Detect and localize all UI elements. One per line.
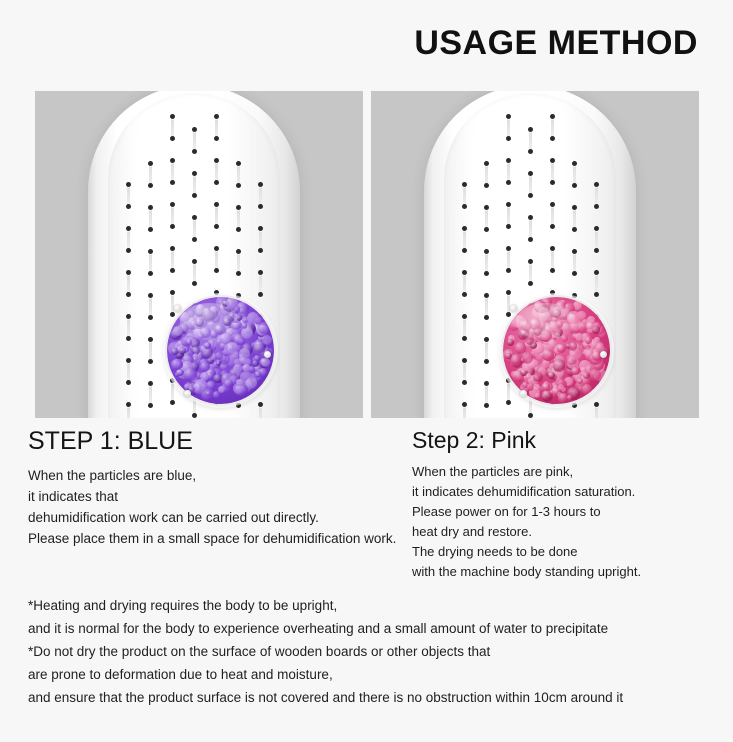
perforation-hole-icon <box>528 259 533 264</box>
perforation-hole-icon <box>258 226 263 231</box>
perforation-hole-icon <box>462 336 467 341</box>
gel-bead <box>191 321 196 326</box>
gel-bead <box>223 322 231 330</box>
gel-bead <box>586 322 593 329</box>
perforation-hole-icon <box>572 205 577 210</box>
step-1-line: When the particles are blue, <box>28 465 398 486</box>
perforation-groove <box>463 185 466 205</box>
perforation-groove <box>193 218 196 238</box>
perforation-hole-icon <box>214 246 219 251</box>
gel-bead <box>540 331 546 337</box>
perforation-groove <box>237 164 240 184</box>
gel-bead <box>554 333 559 338</box>
gel-bead <box>529 318 541 330</box>
perforation-groove <box>127 405 130 419</box>
dehumidifier-body-blue <box>88 91 300 418</box>
gel-bead <box>234 317 239 322</box>
gel-beads-pink <box>503 297 610 404</box>
gel-bead <box>507 339 514 346</box>
gel-bead <box>187 310 195 318</box>
gel-bead <box>195 307 205 317</box>
perforation-hole-icon <box>572 227 577 232</box>
perforation-groove <box>259 405 262 419</box>
gel-bead <box>541 321 552 332</box>
gel-bead <box>194 322 201 329</box>
gel-bead <box>196 305 205 314</box>
perforation-hole-icon <box>528 171 533 176</box>
perforation-hole-icon <box>506 312 511 317</box>
gel-bead <box>552 316 558 322</box>
gel-bead <box>204 342 211 349</box>
gel-bead <box>202 307 211 316</box>
perforation-hole-icon <box>594 226 599 231</box>
perforation-groove <box>463 361 466 381</box>
step-2-line: The drying needs to be done <box>412 542 732 562</box>
gel-bead <box>200 362 210 372</box>
perforation-hole-icon <box>126 292 131 297</box>
perforation-hole-icon <box>506 224 511 229</box>
gel-bead <box>539 313 548 322</box>
gel-bead <box>228 313 234 319</box>
gel-bead <box>210 330 217 337</box>
gel-bead <box>192 317 203 328</box>
gel-bead <box>556 312 561 317</box>
perforation-groove <box>551 249 554 269</box>
gel-bead <box>562 323 569 330</box>
gel-bead <box>538 322 545 329</box>
perforation-hole-icon <box>528 413 533 418</box>
gel-bead <box>538 333 546 341</box>
gel-bead <box>533 372 543 382</box>
gel-bead <box>533 326 543 336</box>
perforation-hole-icon <box>550 268 555 273</box>
gel-bead <box>542 323 554 335</box>
gel-bead <box>231 320 241 330</box>
gel-bead <box>546 311 553 318</box>
note-line: are prone to deformation due to heat and… <box>28 663 718 686</box>
perforation-hole-icon <box>170 202 175 207</box>
perforation-groove <box>237 208 240 228</box>
gel-bead <box>194 316 207 329</box>
perforation-hole-icon <box>572 249 577 254</box>
gel-bead <box>548 339 557 348</box>
gel-bead <box>533 384 540 391</box>
perforation-hole-icon <box>192 171 197 176</box>
perforation-hole-icon <box>192 413 197 418</box>
perforation-hole-icon <box>126 204 131 209</box>
gel-bead <box>223 318 231 326</box>
perforation-hole-icon <box>192 149 197 154</box>
gel-bead <box>535 330 545 340</box>
perforation-groove <box>507 161 510 181</box>
perforation-hole-icon <box>462 226 467 231</box>
gel-bead <box>557 344 566 353</box>
perforation-hole-icon <box>148 359 153 364</box>
perforation-groove <box>171 249 174 269</box>
perforation-groove <box>529 130 532 150</box>
perforation-hole-icon <box>550 290 555 295</box>
perforation-hole-icon <box>550 114 555 119</box>
perforation-groove <box>573 208 576 228</box>
step-2-line: Please power on for 1-3 hours to <box>412 502 732 522</box>
gel-bead <box>258 322 271 335</box>
perforation-hole-icon <box>594 270 599 275</box>
perforation-hole-icon <box>528 215 533 220</box>
gel-bead <box>526 324 538 336</box>
gel-bead <box>215 325 224 334</box>
gel-bead <box>538 307 549 318</box>
product-photo-blue <box>35 91 363 418</box>
perforation-hole-icon <box>484 293 489 298</box>
perforation-hole-icon <box>214 202 219 207</box>
gel-bead <box>211 313 220 322</box>
gel-bead <box>261 358 270 367</box>
perforation-hole-icon <box>236 271 241 276</box>
gel-bead <box>523 319 529 325</box>
perforation-hole-icon <box>484 205 489 210</box>
perforation-groove <box>127 273 130 293</box>
gel-bead <box>224 379 233 388</box>
perforation-hole-icon <box>506 400 511 405</box>
gel-bead <box>540 303 551 314</box>
perforation-hole-icon <box>506 136 511 141</box>
bead-window-blue <box>165 295 276 406</box>
gel-bead <box>531 320 538 327</box>
gel-bead <box>525 332 534 341</box>
gel-bead <box>516 320 524 328</box>
perforation-hole-icon <box>506 246 511 251</box>
perforation-groove <box>149 208 152 228</box>
perforation-hole-icon <box>148 227 153 232</box>
perforation-groove <box>149 296 152 316</box>
gel-bead <box>198 333 204 339</box>
screw-dot-icon <box>264 351 271 358</box>
perforation-groove <box>237 252 240 272</box>
gel-bead <box>184 368 197 381</box>
gel-bead <box>553 309 561 317</box>
perforation-hole-icon <box>484 359 489 364</box>
gel-bead <box>213 391 221 399</box>
gel-bead <box>520 321 527 328</box>
note-line: *Do not dry the product on the surface o… <box>28 640 718 663</box>
perforation-groove <box>595 273 598 293</box>
gel-bead <box>553 328 563 338</box>
device-face-plate-pink <box>444 93 616 418</box>
perforation-hole-icon <box>236 161 241 166</box>
step-2-heading: Step 2: Pink <box>412 428 732 453</box>
gel-bead <box>549 305 562 318</box>
gel-bead <box>521 320 533 332</box>
note-line: and ensure that the product surface is n… <box>28 686 718 709</box>
perforation-hole-icon <box>236 403 241 408</box>
perforation-groove <box>171 161 174 181</box>
perforation-hole-icon <box>214 224 219 229</box>
gel-bead <box>555 308 567 320</box>
gel-bead <box>223 315 234 326</box>
perforation-hole-icon <box>506 268 511 273</box>
screw-dot-icon <box>520 390 527 397</box>
perforation-groove <box>485 252 488 272</box>
perforation-groove <box>463 229 466 249</box>
step-1-line: Please place them in a small space for d… <box>28 528 398 549</box>
perforation-hole-icon <box>170 158 175 163</box>
perforation-hole-icon <box>258 248 263 253</box>
step-2-line: When the particles are pink, <box>412 462 732 482</box>
perforation-hole-icon <box>170 180 175 185</box>
perforation-hole-icon <box>258 270 263 275</box>
perforation-hole-icon <box>148 315 153 320</box>
gel-bead <box>545 325 556 336</box>
device-face-plate-blue <box>108 93 280 418</box>
gel-bead <box>208 307 219 318</box>
gel-bead <box>569 342 578 351</box>
perforation-groove <box>215 161 218 181</box>
step-1-heading: STEP 1: BLUE <box>28 428 398 456</box>
gel-bead <box>193 311 205 323</box>
perforation-groove <box>529 218 532 238</box>
gel-bead <box>545 302 551 308</box>
perforation-groove <box>149 340 152 360</box>
perforation-hole-icon <box>484 403 489 408</box>
gel-bead <box>188 314 200 326</box>
gel-bead <box>553 306 564 317</box>
perforation-hole-icon <box>528 193 533 198</box>
perforation-hole-icon <box>462 270 467 275</box>
perforation-hole-icon <box>126 248 131 253</box>
gel-bead <box>561 335 568 342</box>
gel-bead <box>556 321 563 328</box>
perforation-hole-icon <box>148 381 153 386</box>
perforation-hole-icon <box>236 205 241 210</box>
gel-bead <box>548 372 555 379</box>
perforation-groove <box>171 117 174 137</box>
perforation-hole-icon <box>192 237 197 242</box>
perforation-hole-icon <box>192 215 197 220</box>
perforation-hole-icon <box>462 248 467 253</box>
perforation-groove <box>259 185 262 205</box>
gel-bead <box>570 349 581 360</box>
perforation-hole-icon <box>258 182 263 187</box>
gel-bead <box>242 323 247 328</box>
step-2-line: it indicates dehumidification saturation… <box>412 482 732 502</box>
perforation-groove <box>573 164 576 184</box>
gel-bead <box>241 327 253 339</box>
gel-bead <box>549 322 560 333</box>
gel-bead <box>577 378 583 384</box>
perforation-hole-icon <box>126 314 131 319</box>
perforation-hole-icon <box>462 380 467 385</box>
perforation-hole-icon <box>484 381 489 386</box>
gel-bead <box>214 324 225 335</box>
perforation-hole-icon <box>126 402 131 407</box>
perforation-hole-icon <box>594 292 599 297</box>
perforation-hole-icon <box>506 180 511 185</box>
perforation-hole-icon <box>506 290 511 295</box>
gel-bead <box>222 326 231 335</box>
perforation-groove <box>595 405 598 419</box>
perforation-groove <box>193 262 196 282</box>
perforation-groove <box>507 205 510 225</box>
perforation-hole-icon <box>126 182 131 187</box>
perforation-groove <box>215 205 218 225</box>
perforation-hole-icon <box>148 205 153 210</box>
gel-bead <box>534 301 546 313</box>
perforation-hole-icon <box>192 259 197 264</box>
product-photo-pink <box>371 91 699 418</box>
perforation-hole-icon <box>236 227 241 232</box>
gel-bead <box>542 349 554 361</box>
gel-bead <box>542 311 552 321</box>
gel-bead <box>200 327 211 338</box>
perforation-groove <box>551 117 554 137</box>
perforation-groove <box>215 117 218 137</box>
gel-bead <box>206 308 218 320</box>
perforation-hole-icon <box>148 183 153 188</box>
perforation-hole-icon <box>170 136 175 141</box>
perforation-hole-icon <box>214 268 219 273</box>
perforation-groove <box>507 117 510 137</box>
gel-bead <box>179 347 186 354</box>
perforation-hole-icon <box>148 271 153 276</box>
perforation-groove <box>259 273 262 293</box>
gel-bead <box>193 326 206 339</box>
step-block-2: Step 2: Pink When the particles are pink… <box>412 428 732 582</box>
perforation-groove <box>259 229 262 249</box>
perforation-hole-icon <box>170 268 175 273</box>
perforation-hole-icon <box>550 224 555 229</box>
screw-dot-icon <box>184 390 191 397</box>
perforation-hole-icon <box>258 204 263 209</box>
gel-bead <box>511 354 521 364</box>
gel-bead <box>534 301 543 310</box>
perforation-groove <box>149 252 152 272</box>
perforation-hole-icon <box>126 358 131 363</box>
perforation-hole-icon <box>528 281 533 286</box>
perforation-hole-icon <box>236 183 241 188</box>
screw-dot-icon <box>510 305 517 312</box>
perforation-hole-icon <box>148 249 153 254</box>
perforation-hole-icon <box>484 271 489 276</box>
perforation-hole-icon <box>126 270 131 275</box>
gel-bead <box>205 308 211 314</box>
perforation-groove <box>463 405 466 419</box>
perforation-groove <box>529 174 532 194</box>
gel-bead <box>541 312 552 323</box>
perforation-hole-icon <box>170 400 175 405</box>
perforation-hole-icon <box>214 158 219 163</box>
perforation-hole-icon <box>572 271 577 276</box>
gel-bead <box>206 391 211 396</box>
gel-bead <box>215 352 223 360</box>
step-1-line: it indicates that <box>28 486 398 507</box>
page-header: USAGE METHOD <box>0 0 733 88</box>
perforation-groove <box>551 205 554 225</box>
gel-bead <box>522 352 534 364</box>
perforation-hole-icon <box>506 202 511 207</box>
perforation-groove <box>463 273 466 293</box>
perforation-hole-icon <box>506 114 511 119</box>
gel-bead <box>541 390 552 401</box>
perforation-hole-icon <box>484 227 489 232</box>
perforation-groove <box>215 249 218 269</box>
gel-bead <box>182 321 193 332</box>
perforation-hole-icon <box>126 226 131 231</box>
perforation-hole-icon <box>528 237 533 242</box>
gel-bead <box>567 311 580 324</box>
step-2-line: heat dry and restore. <box>412 522 732 542</box>
gel-bead <box>236 379 243 386</box>
gel-bead <box>532 306 544 318</box>
perforation-groove <box>463 317 466 337</box>
perforation-hole-icon <box>258 292 263 297</box>
perforation-groove <box>595 185 598 205</box>
perforation-groove <box>485 340 488 360</box>
perforation-hole-icon <box>550 202 555 207</box>
dehumidifier-body-pink <box>424 91 636 418</box>
perforation-hole-icon <box>170 224 175 229</box>
gel-bead <box>536 320 546 330</box>
gel-bead <box>203 310 215 322</box>
perforation-hole-icon <box>148 403 153 408</box>
gel-bead <box>555 301 566 312</box>
perforation-hole-icon <box>572 183 577 188</box>
step-block-1: STEP 1: BLUE When the particles are blue… <box>28 428 398 549</box>
gel-bead <box>560 309 568 317</box>
perforation-hole-icon <box>550 246 555 251</box>
perforation-hole-icon <box>214 180 219 185</box>
step-1-line: dehumidification work can be carried out… <box>28 507 398 528</box>
perforation-groove <box>507 249 510 269</box>
perforation-groove <box>149 164 152 184</box>
perforation-hole-icon <box>214 114 219 119</box>
gel-bead <box>541 297 552 308</box>
perforation-groove <box>127 317 130 337</box>
perforation-groove <box>127 229 130 249</box>
page-title: USAGE METHOD <box>414 24 698 63</box>
perforation-hole-icon <box>484 249 489 254</box>
perforation-hole-icon <box>170 312 175 317</box>
screw-dot-icon <box>174 305 181 312</box>
gel-bead <box>237 315 242 320</box>
perforation-hole-icon <box>148 161 153 166</box>
perforation-hole-icon <box>462 292 467 297</box>
perforation-groove <box>193 130 196 150</box>
perforation-groove <box>485 296 488 316</box>
note-line: and it is normal for the body to experie… <box>28 617 718 640</box>
perforation-groove <box>507 381 510 401</box>
gel-bead <box>562 313 568 319</box>
perforation-hole-icon <box>550 180 555 185</box>
perforation-hole-icon <box>528 127 533 132</box>
perforation-groove <box>171 205 174 225</box>
perforation-hole-icon <box>214 290 219 295</box>
perforation-groove <box>485 208 488 228</box>
screw-dot-icon <box>600 351 607 358</box>
gel-bead <box>173 326 182 335</box>
perforation-hole-icon <box>170 114 175 119</box>
gel-bead <box>197 304 204 311</box>
perforation-hole-icon <box>236 249 241 254</box>
gel-bead <box>226 328 233 335</box>
perforation-hole-icon <box>550 158 555 163</box>
perforation-hole-icon <box>192 127 197 132</box>
gel-bead <box>262 335 272 345</box>
perforation-hole-icon <box>484 183 489 188</box>
gel-bead <box>179 312 190 323</box>
perforation-groove <box>149 384 152 404</box>
perforation-hole-icon <box>462 358 467 363</box>
perforation-hole-icon <box>148 293 153 298</box>
